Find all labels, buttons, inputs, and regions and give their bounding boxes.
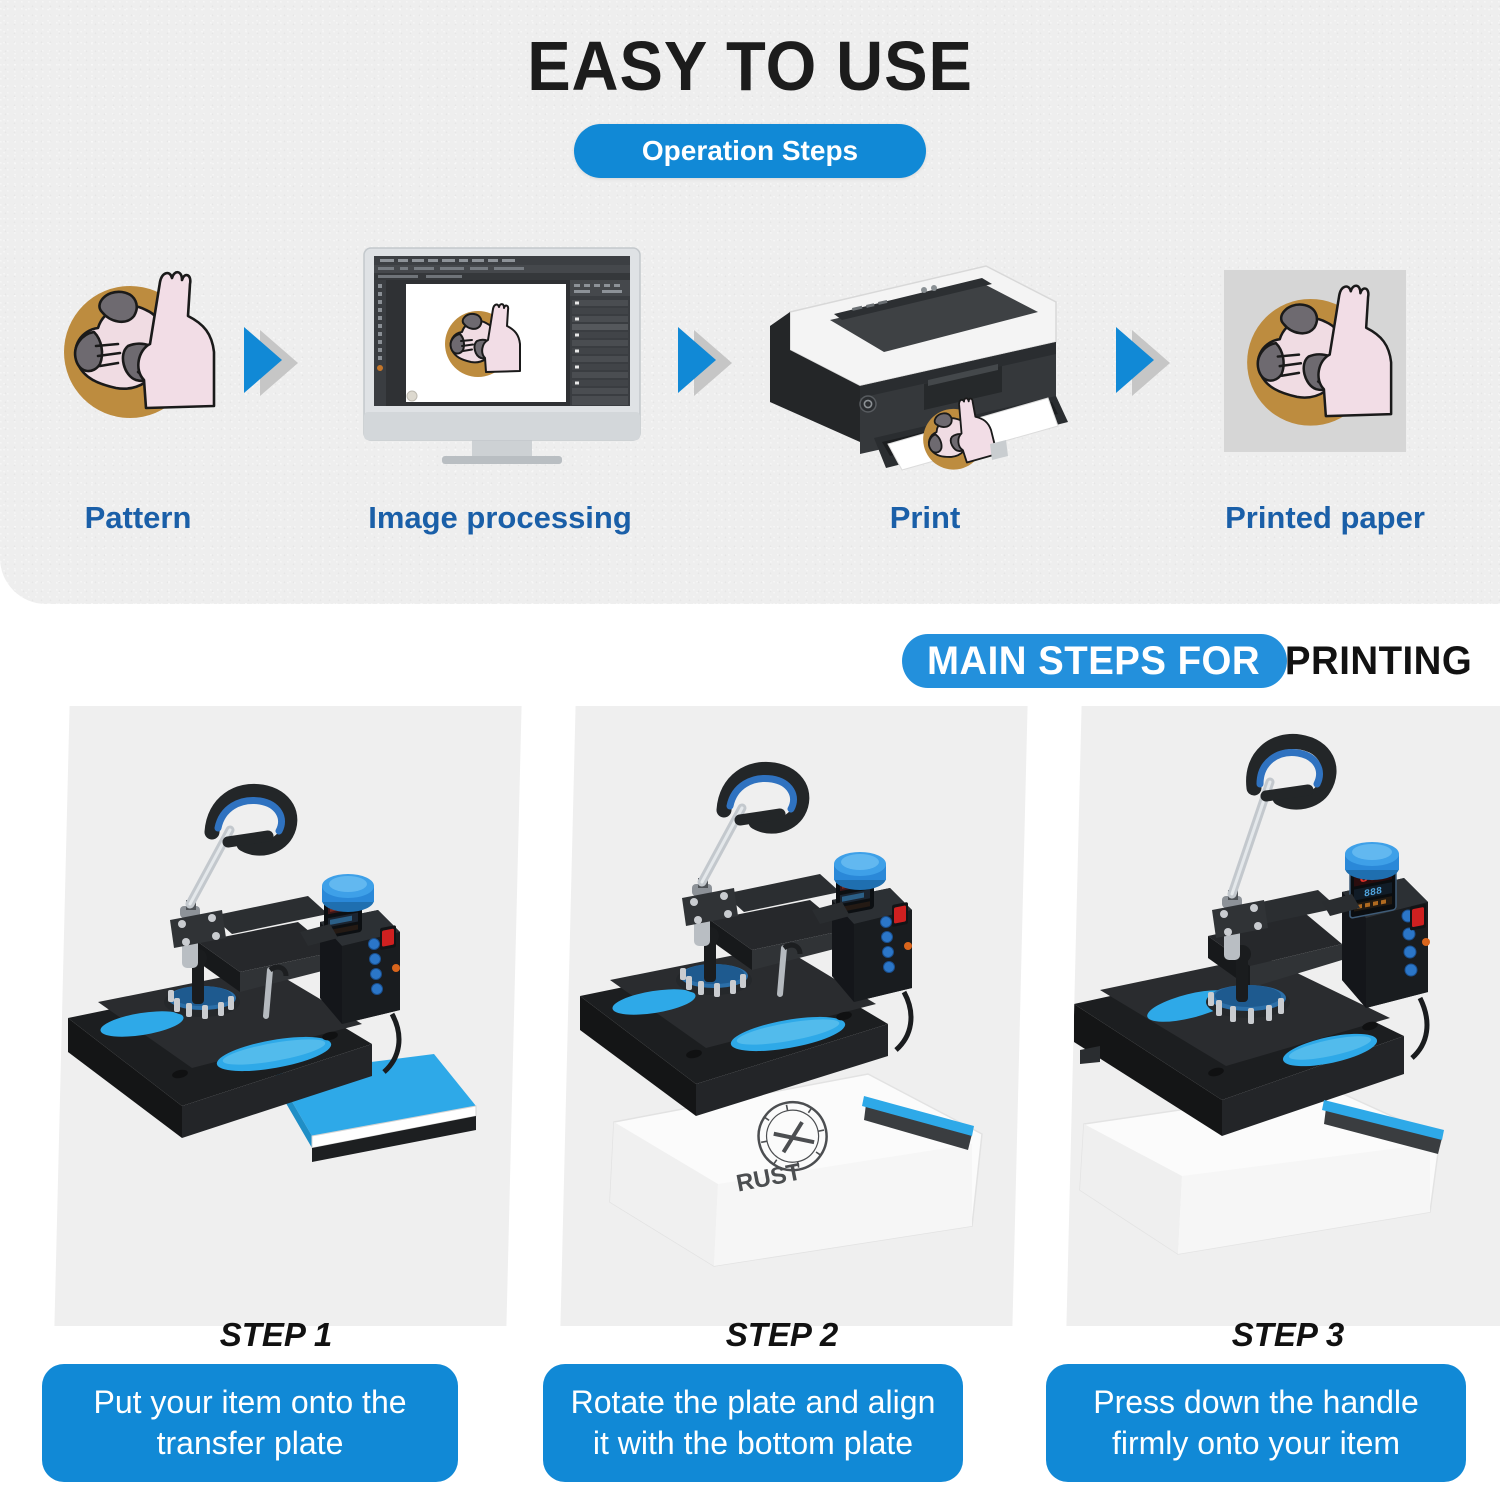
subtitle-badge: Operation Steps — [574, 124, 926, 178]
step-2-image: RUST — [560, 706, 1027, 1326]
step-2-title: STEP 2 — [556, 1316, 1008, 1354]
step-3-caption: Press down the handle firmly onto your i… — [1046, 1364, 1466, 1482]
page-title: EASY TO USE — [53, 26, 1448, 106]
flow-label-printed-paper: Printed paper — [1180, 500, 1470, 536]
operation-flow — [0, 238, 1500, 478]
flow-label-pattern: Pattern — [38, 500, 238, 536]
flow-labels: Pattern Image processing Print Printed p… — [0, 500, 1500, 550]
step-3-caption-line2: firmly onto your item — [1112, 1425, 1400, 1461]
chevron-right-arrow-icon — [672, 324, 746, 396]
step-panels: RUST — [0, 706, 1500, 1326]
step-2-caption-line2: it with the bottom plate — [593, 1425, 913, 1461]
chevron-right-arrow-icon — [1110, 324, 1184, 396]
chevron-right-arrow-icon — [238, 324, 312, 396]
dog-pattern-icon — [42, 260, 232, 455]
flow-label-image-processing: Image processing — [350, 500, 650, 536]
banner-highlight-text: MAIN STEPS FOR — [902, 634, 1287, 688]
operation-steps-card: EASY TO USE Operation Steps — [0, 0, 1500, 604]
main-steps-banner: MAIN STEPS FOR PRINTING — [894, 634, 1476, 688]
step-1-caption: Put your item onto the transfer plate — [42, 1364, 458, 1482]
flow-label-print: Print — [800, 500, 1050, 536]
step-1-image — [54, 706, 521, 1326]
step-1-caption-line2: transfer plate — [157, 1425, 344, 1461]
monitor-icon — [356, 244, 648, 481]
step-3-image: 888 888 — [1066, 706, 1500, 1326]
step-3-title: STEP 3 — [1062, 1316, 1500, 1354]
banner-plain-text: PRINTING — [1285, 639, 1472, 684]
step-3-caption-line1: Press down the handle — [1093, 1384, 1419, 1420]
step-2-caption: Rotate the plate and align it with the b… — [543, 1364, 963, 1482]
step-2-caption-line1: Rotate the plate and align — [571, 1384, 936, 1420]
step-1-caption-line1: Put your item onto the — [93, 1384, 406, 1420]
printer-icon — [756, 246, 1076, 481]
step-1-title: STEP 1 — [50, 1316, 502, 1354]
printed-paper-icon — [1222, 268, 1408, 463]
